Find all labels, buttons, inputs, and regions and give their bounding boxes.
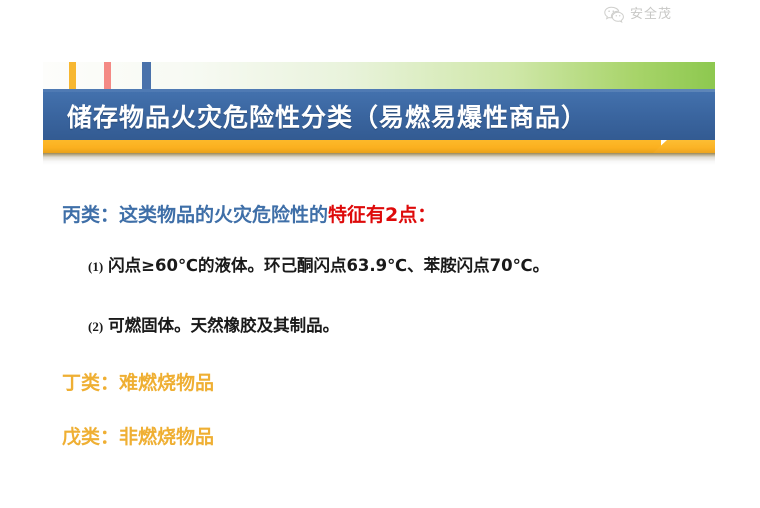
- accent-band-right: [653, 140, 715, 153]
- accent-band-left: [43, 140, 661, 153]
- watermark: 安全茂: [604, 6, 672, 24]
- list-item: (2)可燃固体。天然橡胶及其制品。: [88, 312, 339, 336]
- decor-stripe-pink: [104, 62, 111, 91]
- watermark-text: 安全茂: [630, 6, 672, 24]
- decor-stripe-blue: [142, 62, 151, 91]
- page-title: 储存物品火灾危险性分类（易燃易爆性商品）: [67, 98, 587, 134]
- title-bar: 储存物品火灾危险性分类（易燃易爆性商品）: [43, 92, 715, 140]
- accent-band: [43, 140, 715, 153]
- list-item: (1)闪点≥60℃的液体。环己酮闪点63.9℃、苯胺闪点70℃。: [88, 252, 549, 276]
- decor-gradient-bar: [43, 62, 715, 91]
- decor-stripe-orange: [69, 62, 76, 91]
- accent-band-shadow: [43, 153, 715, 165]
- category-heading-red: 特征有2点：: [328, 204, 436, 226]
- category-line-wu: 戊类：非燃烧物品: [62, 422, 214, 449]
- list-item-number: (1): [88, 259, 103, 274]
- category-line-ding: 丁类：难燃烧物品: [62, 368, 214, 395]
- wechat-icon: [604, 6, 624, 24]
- list-item-number: (2): [88, 319, 103, 334]
- category-heading-blue: 丙类：这类物品的火灾危险性的: [62, 204, 328, 226]
- slide-canvas: 安全茂 储存物品火灾危险性分类（易燃易爆性商品） 丙类：这类物品的火灾危险性的特…: [0, 0, 760, 508]
- category-heading: 丙类：这类物品的火灾危险性的特征有2点：: [62, 200, 436, 227]
- list-item-text: 闪点≥60℃的液体。环己酮闪点63.9℃、苯胺闪点70℃。: [108, 256, 549, 275]
- list-item-text: 可燃固体。天然橡胶及其制品。: [108, 316, 339, 335]
